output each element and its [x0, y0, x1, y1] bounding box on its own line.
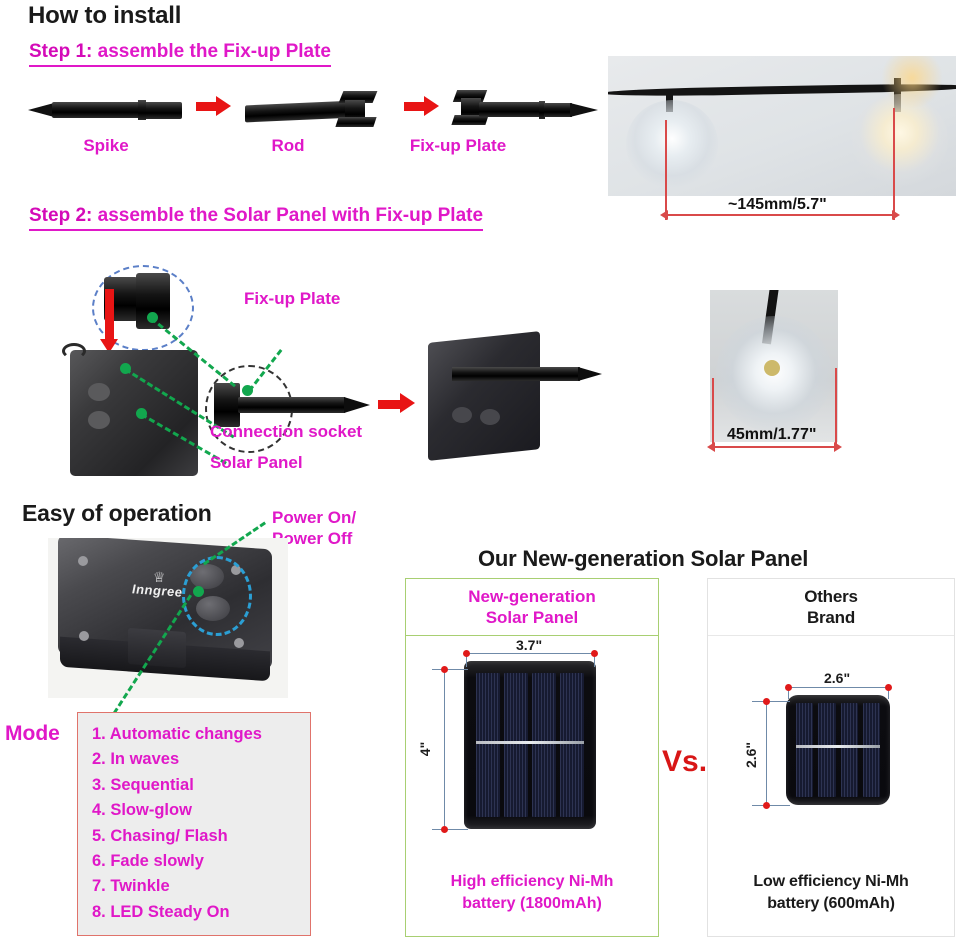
- others-height-dot-top: [763, 698, 770, 705]
- snowflake-arrow-left: [707, 442, 715, 452]
- photo-ours-solar-panel: 3.7" 4": [406, 637, 656, 867]
- others-width-dot-left: [785, 684, 792, 691]
- ours-height-line: [444, 669, 445, 829]
- spacing-extension-left: [665, 120, 667, 220]
- mode-item: 5. Chasing/ Flash: [92, 824, 310, 849]
- ours-height-dot-top: [441, 666, 448, 673]
- step2-rest: assemble the Solar Panel with Fix-up Pla…: [92, 205, 483, 226]
- ours-footer: High efficiency Ni-Mh battery (1800mAh): [406, 871, 658, 914]
- rod-illustration: [245, 91, 395, 127]
- snowflake-dimension-line: [712, 446, 837, 448]
- spacing-extension-right: [893, 108, 895, 220]
- mode-list: 1. Automatic changes 2. In waves 3. Sequ…: [78, 713, 310, 925]
- solar-cell: [476, 673, 500, 817]
- comparison-panel-ours: New-generation Solar Panel 3.7" 4" High …: [405, 578, 659, 937]
- ours-height-ext-bot: [432, 829, 468, 830]
- part-label-rod: Rod: [228, 136, 348, 156]
- part-label-fixup-plate: Fix-up Plate: [378, 136, 538, 156]
- mode-item: 2. In waves: [92, 747, 310, 772]
- others-height-text: 2.6": [743, 742, 759, 768]
- socket-insert-arrow: [105, 289, 114, 343]
- mid-rod: [238, 397, 346, 413]
- leader-dot-fixup-plate: [242, 385, 253, 396]
- ours-panel-busbar: [476, 741, 584, 744]
- assembled-rod-tip: [578, 367, 602, 381]
- ours-height-text: 4": [417, 742, 433, 756]
- install-title: How to install: [28, 2, 181, 30]
- operation-title: Easy of operation: [22, 500, 212, 527]
- panel-button-2: [88, 411, 110, 429]
- others-height-ext-top: [752, 701, 790, 702]
- solar-cell: [863, 703, 880, 797]
- callout-connection-socket: Connection socket: [210, 422, 362, 443]
- mode-item: 4. Slow-glow: [92, 798, 310, 823]
- comparison-title: Our New-generation Solar Panel: [478, 546, 808, 572]
- assembled-product: [428, 331, 540, 461]
- mode-list-box: 1. Automatic changes 2. In waves 3. Sequ…: [77, 712, 311, 936]
- step1-heading: Step 1: assemble the Fix-up Plate: [29, 42, 331, 67]
- mode-item: 1. Automatic changes: [92, 722, 310, 747]
- ours-header: New-generation Solar Panel: [406, 579, 658, 636]
- ours-width-text: 3.7": [516, 637, 542, 653]
- crown-icon: ♕: [153, 571, 179, 583]
- ours-height-dot-bot: [441, 826, 448, 833]
- solar-cell: [560, 673, 584, 817]
- others-width-text: 2.6": [824, 670, 850, 686]
- leader-dot-socket-a: [147, 312, 158, 323]
- photo-others-solar-panel: 2.6" 2.6": [708, 637, 952, 867]
- snowflake-right-glow: [880, 56, 944, 108]
- leader-dot-solar-panel: [136, 408, 147, 419]
- snowflake-right: [852, 94, 948, 186]
- mode-item: 7. Twinkle: [92, 874, 310, 899]
- callout-fixup-plate: Fix-up Plate: [244, 289, 340, 310]
- solar-cell: [504, 673, 528, 817]
- photo-string-light-spacing: [608, 56, 956, 196]
- others-width-line: [788, 687, 888, 688]
- ours-height-ext-top: [432, 669, 468, 670]
- panel-cable: [62, 343, 86, 359]
- ours-width-dot-right: [591, 650, 598, 657]
- arrow-to-assembled: [378, 393, 418, 415]
- leader-dot-power-button: [193, 586, 204, 597]
- spacing-arrow-left: [660, 210, 668, 220]
- versus-label: Vs.: [662, 745, 707, 779]
- others-width-dot-right: [885, 684, 892, 691]
- snowflake-extension-left: [712, 378, 714, 450]
- step2-lead: Step 2:: [29, 205, 92, 226]
- solar-cell: [796, 703, 813, 797]
- photo-snowflake-closeup: [710, 290, 838, 442]
- spacing-dimension-line: [665, 214, 895, 216]
- others-head-line2: Brand: [807, 608, 855, 627]
- spike-illustration: [28, 99, 180, 121]
- mid-plate: [214, 383, 240, 427]
- others-foot-line2: battery (600mAh): [767, 895, 895, 912]
- others-foot-line1: Low efficiency Ni-Mh: [753, 873, 908, 890]
- ours-panel-cells: [476, 673, 584, 817]
- photo-control-box: ♕ Inngree: [48, 538, 288, 698]
- solar-panel-unit: [70, 350, 198, 476]
- step1-rest: assemble the Fix-up Plate: [92, 41, 331, 62]
- mid-rod-tip: [344, 397, 370, 413]
- others-head-line1: Others: [804, 587, 858, 606]
- ours-foot-line1: High efficiency Ni-Mh: [451, 873, 614, 890]
- ours-width-line: [466, 653, 594, 654]
- solar-cell: [532, 673, 556, 817]
- snowflake-extension-right: [835, 368, 837, 450]
- step1-lead: Step 1:: [29, 41, 92, 62]
- callout-solar-panel: Solar Panel: [210, 453, 303, 474]
- assembled-button-1: [452, 407, 472, 423]
- others-header: Others Brand: [708, 579, 954, 636]
- arrow-spike-to-rod: [196, 96, 232, 116]
- arrow-rod-to-plate: [404, 96, 440, 116]
- spacing-measure-text: ~145mm/5.7": [728, 196, 827, 214]
- leader-dot-socket-b: [120, 363, 131, 374]
- mode-label: Mode: [5, 722, 60, 746]
- snowflake-measure-text: 45mm/1.77": [727, 426, 816, 444]
- control-box-screw-bl: [79, 631, 89, 641]
- others-height-ext-bot: [752, 805, 790, 806]
- snowflake-left: [626, 100, 718, 188]
- fixup-plate-illustration: [455, 89, 600, 129]
- comparison-panel-others: Others Brand 2.6" 2.6" Low efficiency Ni…: [707, 578, 955, 937]
- others-height-line: [766, 701, 767, 805]
- ours-head-line2: Solar Panel: [486, 608, 579, 627]
- solar-cell: [841, 703, 858, 797]
- snowflake-arrow-right: [834, 442, 842, 452]
- others-height-dot-bot: [763, 802, 770, 809]
- ours-header-text: New-generation Solar Panel: [468, 586, 596, 629]
- control-box-screw-br: [234, 638, 244, 648]
- assembled-button-2: [480, 409, 500, 425]
- part-label-spike: Spike: [46, 136, 166, 156]
- step2-heading: Step 2: assemble the Solar Panel with Fi…: [29, 206, 483, 231]
- others-panel-cells: [796, 703, 880, 797]
- mode-item: 8. LED Steady On: [92, 900, 310, 925]
- ours-foot-line2: battery (1800mAh): [462, 895, 602, 912]
- others-header-text: Others Brand: [804, 586, 858, 629]
- ours-width-dot-left: [463, 650, 470, 657]
- panel-button-1: [88, 383, 110, 401]
- snowflake-closeup-center: [764, 360, 780, 376]
- ours-head-line1: New-generation: [468, 587, 596, 606]
- mode-item: 3. Sequential: [92, 773, 310, 798]
- button-highlight-circle: [182, 556, 252, 636]
- others-panel-busbar: [796, 745, 880, 748]
- spacing-arrow-right: [892, 210, 900, 220]
- control-box-screw-tl: [78, 556, 88, 566]
- power-on-text: Power On/: [272, 508, 356, 527]
- others-footer: Low efficiency Ni-Mh battery (600mAh): [708, 871, 954, 914]
- assembled-rod: [452, 367, 580, 381]
- solar-cell: [818, 703, 835, 797]
- mode-item: 6. Fade slowly: [92, 849, 310, 874]
